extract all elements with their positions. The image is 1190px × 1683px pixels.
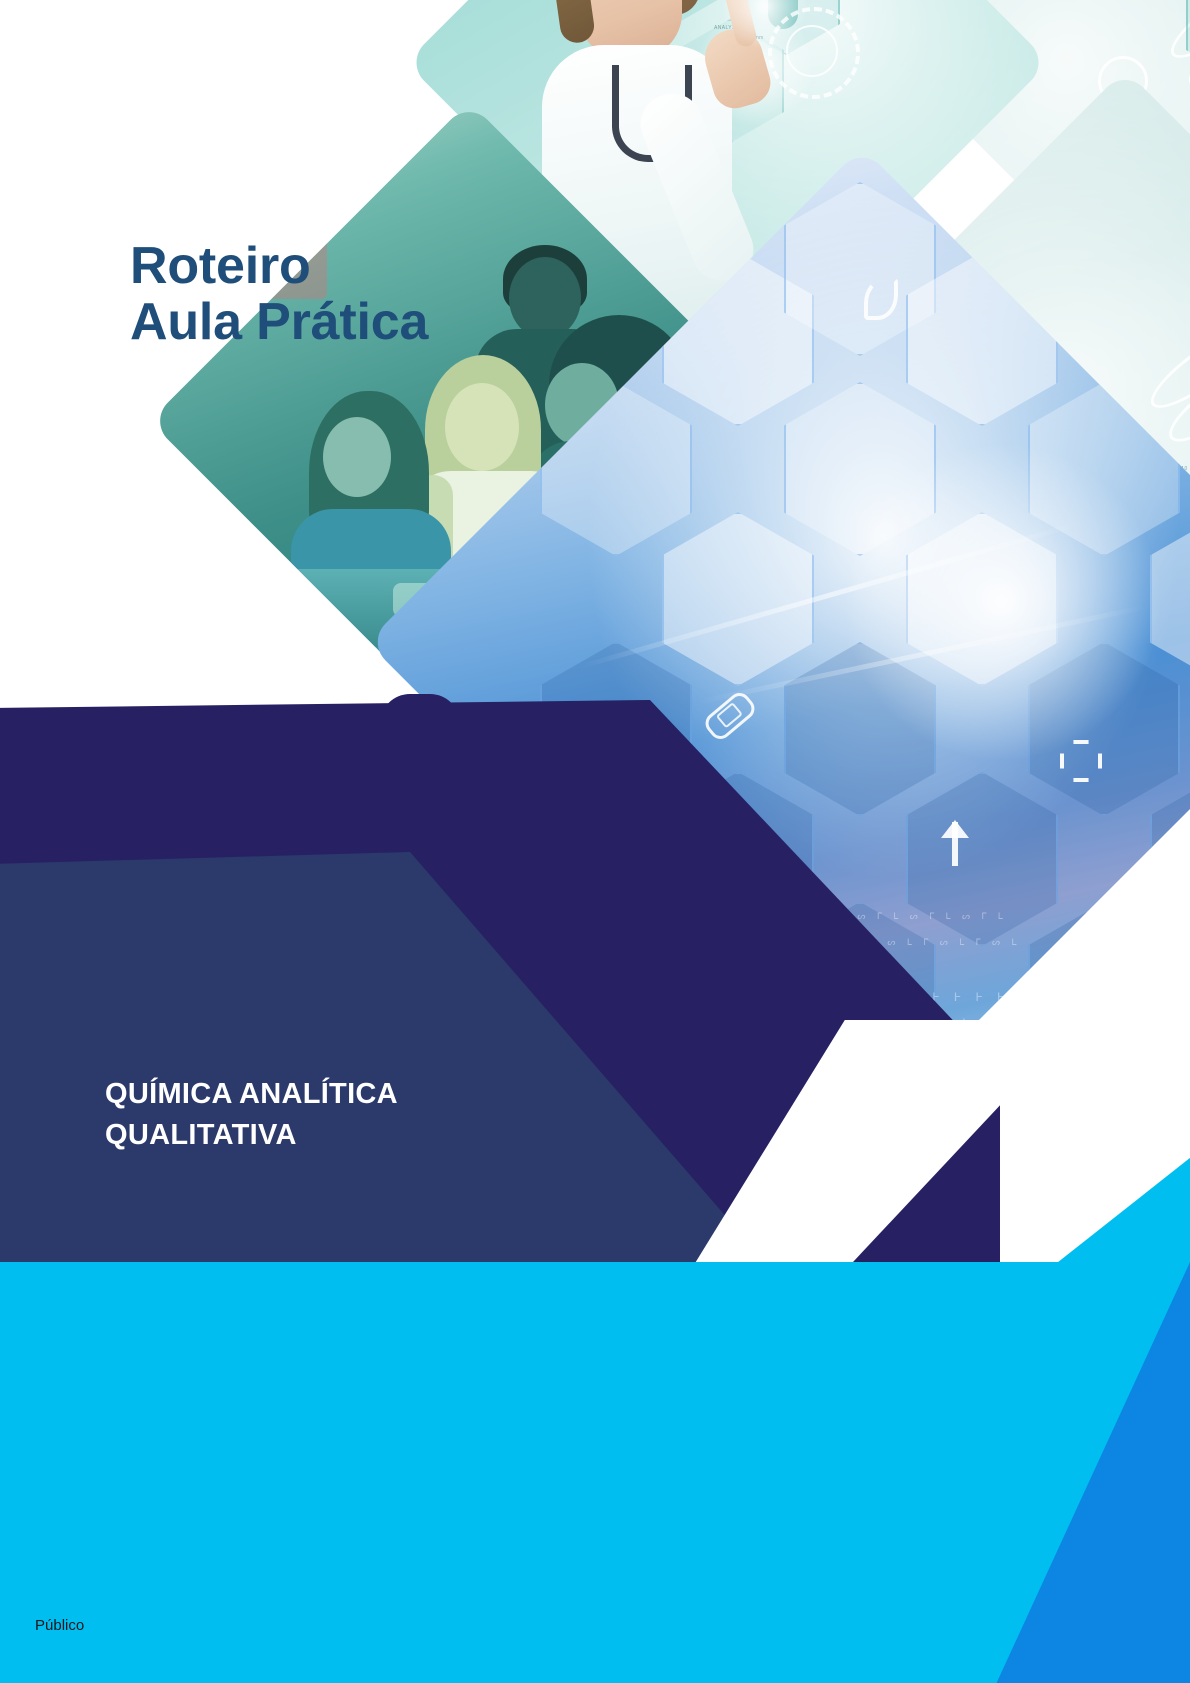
cover-subtitle: QUÍMICA ANALÍTICA QUALITATIVA <box>105 1074 575 1156</box>
subtitle-line-1: QUÍMICA ANALÍTICA <box>105 1074 575 1115</box>
document-cover-page: DATA 34 33 2X 82 SCAN 12 / REF 8 SYS 09 … <box>0 0 1190 1683</box>
cyan-footer-band <box>0 1262 1190 1683</box>
title-line-1: Roteiro <box>130 238 428 294</box>
subtitle-line-2: QUALITATIVA <box>105 1115 575 1156</box>
title-line-2: Aula Prática <box>130 294 428 350</box>
classification-label: Público <box>35 1617 84 1634</box>
up-arrow-icon <box>952 822 958 866</box>
document-icon <box>1180 822 1190 864</box>
cover-title: Roteiro Aula Prática <box>130 238 428 350</box>
